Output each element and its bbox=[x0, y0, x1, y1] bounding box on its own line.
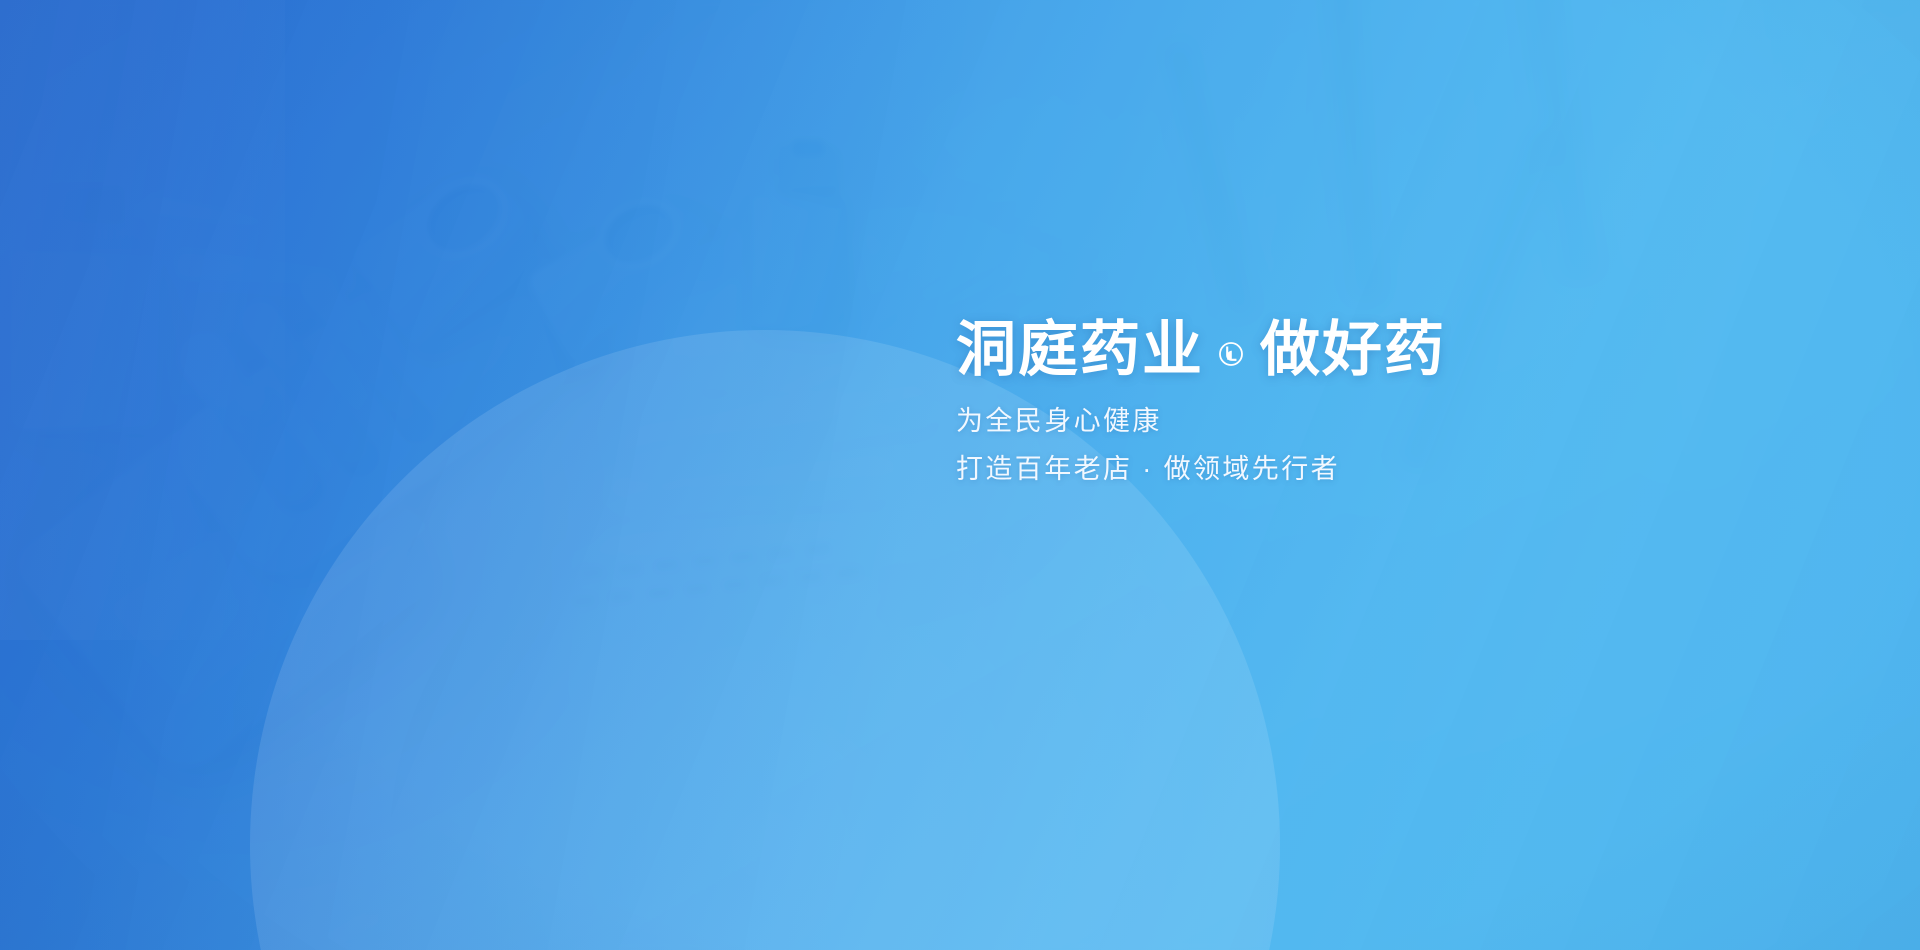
brand-name: 洞庭药业 bbox=[956, 318, 1204, 383]
registered-trademark-circle-d-icon bbox=[1218, 341, 1244, 367]
hero-copy-block: 洞庭药业 做好药 为全民身心健康 打造百年老店 · 做领域先行者 bbox=[956, 318, 1716, 490]
subtitle-line-2: 打造百年老店 · 做领域先行者 bbox=[956, 449, 1716, 490]
hero-banner: 洞庭药业 做好药 为全民身心健康 打造百年老店 · 做领域先行者 bbox=[0, 0, 1920, 950]
page-title: 洞庭药业 做好药 bbox=[956, 318, 1716, 383]
brand-slogan-inline: 做好药 bbox=[1260, 318, 1446, 383]
page-subtitle: 为全民身心健康 打造百年老店 · 做领域先行者 bbox=[956, 401, 1716, 490]
subtitle-line-1: 为全民身心健康 bbox=[956, 401, 1716, 442]
